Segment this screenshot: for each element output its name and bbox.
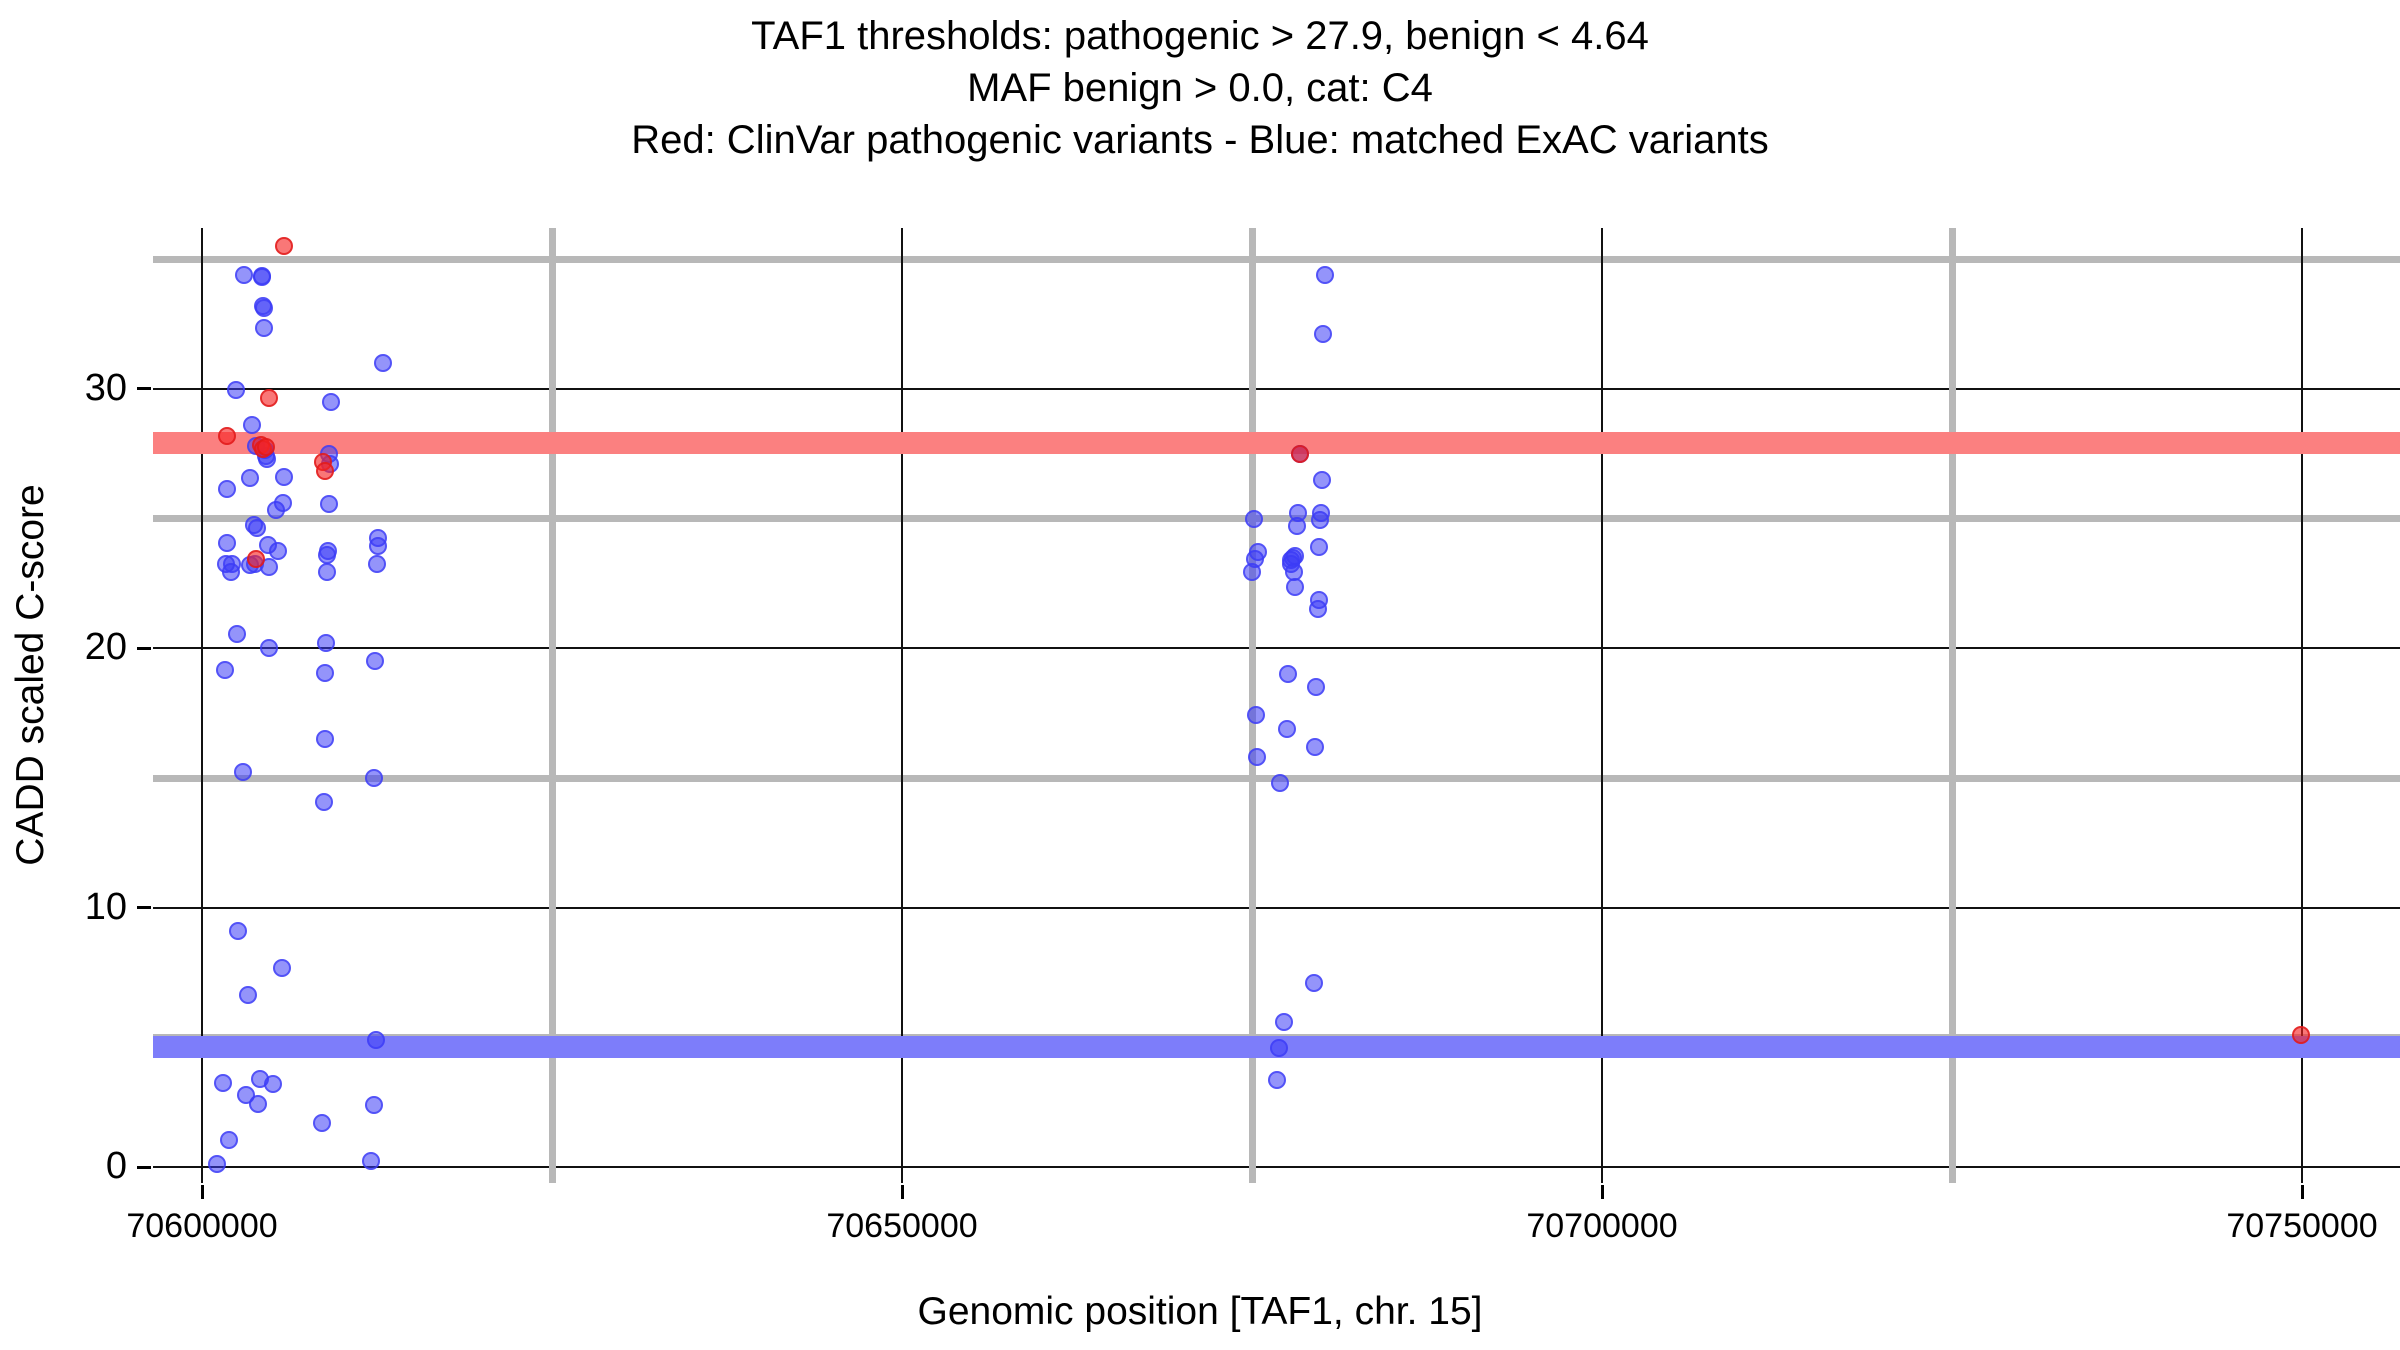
gridline-major-horizontal: [153, 1166, 2400, 1168]
scatter-point: [228, 625, 246, 643]
scatter-point: [1248, 748, 1266, 766]
scatter-point: [315, 793, 333, 811]
y-tick-mark: [137, 1166, 151, 1169]
x-tick-mark: [201, 1185, 204, 1199]
scatter-point: [1310, 538, 1328, 556]
scatter-point: [322, 393, 340, 411]
scatter-point: [365, 769, 383, 787]
scatter-point: [316, 462, 334, 480]
scatter-point: [1305, 974, 1323, 992]
x-tick-mark: [2301, 1185, 2304, 1199]
scatter-point: [365, 1096, 383, 1114]
scatter-point: [317, 634, 335, 652]
scatter-point: [257, 438, 275, 456]
y-tick-label: 20: [7, 626, 127, 669]
scatter-point: [1249, 543, 1267, 561]
x-axis-label: Genomic position [TAF1, chr. 15]: [0, 1290, 2400, 1334]
scatter-point: [320, 495, 338, 513]
gridline-minor-horizontal: [153, 256, 2400, 263]
pathogenic-threshold-band: [153, 432, 2400, 454]
scatter-point: [318, 563, 336, 581]
scatter-point: [218, 480, 236, 498]
scatter-point: [1278, 720, 1296, 738]
scatter-point: [249, 1095, 267, 1113]
scatter-point: [220, 1131, 238, 1149]
y-tick-label: 10: [7, 886, 127, 929]
scatter-point: [1268, 1071, 1286, 1089]
scatter-point: [1275, 1013, 1293, 1031]
scatter-point: [1316, 266, 1334, 284]
scatter-point: [255, 319, 273, 337]
scatter-point: [1314, 325, 1332, 343]
x-tick-label: 70600000: [52, 1207, 352, 1246]
scatter-point: [366, 652, 384, 670]
title-line-2: MAF benign > 0.0, cat: C4: [0, 62, 2400, 114]
scatter-point: [260, 389, 278, 407]
gridline-major-horizontal: [153, 907, 2400, 909]
x-tick-label: 70750000: [2152, 1207, 2400, 1246]
scatter-point: [1310, 591, 1328, 609]
scatter-point: [274, 494, 292, 512]
y-tick-mark: [137, 387, 151, 390]
scatter-point: [367, 1031, 385, 1049]
x-tick-label: 70650000: [752, 1207, 1052, 1246]
scatter-point: [273, 959, 291, 977]
scatter-point: [1291, 445, 1309, 463]
y-tick-label: 0: [7, 1145, 127, 1188]
scatter-point: [368, 555, 386, 573]
scatter-point: [275, 468, 293, 486]
scatter-point: [235, 266, 253, 284]
scatter-point: [1271, 774, 1289, 792]
scatter-point: [218, 427, 236, 445]
gridline-minor-horizontal: [153, 515, 2400, 522]
scatter-point: [260, 639, 278, 657]
title-line-1: TAF1 thresholds: pathogenic > 27.9, beni…: [0, 10, 2400, 62]
y-tick-label: 30: [7, 367, 127, 410]
scatter-point: [2292, 1026, 2310, 1044]
scatter-point: [269, 542, 287, 560]
scatter-point: [1313, 471, 1331, 489]
chart-figure: TAF1 thresholds: pathogenic > 27.9, beni…: [0, 0, 2400, 1350]
scatter-point: [1279, 665, 1297, 683]
x-tick-label: 70700000: [1452, 1207, 1752, 1246]
chart-title: TAF1 thresholds: pathogenic > 27.9, beni…: [0, 10, 2400, 166]
scatter-point: [241, 469, 259, 487]
scatter-point: [316, 730, 334, 748]
scatter-point: [313, 1114, 331, 1132]
scatter-point: [1270, 1039, 1288, 1057]
scatter-point: [218, 534, 236, 552]
scatter-point: [1286, 547, 1304, 565]
gridline-major-horizontal: [153, 647, 2400, 649]
scatter-point: [255, 299, 273, 317]
scatter-point: [1286, 578, 1304, 596]
scatter-point: [208, 1155, 226, 1173]
scatter-point: [275, 237, 293, 255]
scatter-point: [247, 550, 265, 568]
scatter-point: [1247, 706, 1265, 724]
scatter-point: [214, 1074, 232, 1092]
scatter-point: [316, 664, 334, 682]
y-tick-mark: [137, 647, 151, 650]
scatter-point: [374, 354, 392, 372]
scatter-point: [243, 416, 261, 434]
x-tick-mark: [1601, 1185, 1604, 1199]
scatter-point: [227, 381, 245, 399]
gridline-major-horizontal: [153, 388, 2400, 390]
scatter-point: [1245, 510, 1263, 528]
x-tick-mark: [901, 1185, 904, 1199]
title-line-3: Red: ClinVar pathogenic variants - Blue:…: [0, 114, 2400, 166]
scatter-point: [239, 986, 257, 1004]
scatter-point: [216, 661, 234, 679]
scatter-point: [319, 542, 337, 560]
scatter-point: [229, 922, 247, 940]
y-tick-mark: [137, 906, 151, 909]
scatter-point: [234, 763, 252, 781]
scatter-point: [248, 519, 266, 537]
scatter-point: [1312, 504, 1330, 522]
plot-panel: [153, 228, 2400, 1183]
scatter-point: [264, 1075, 282, 1093]
scatter-point: [1307, 678, 1325, 696]
scatter-point: [1306, 738, 1324, 756]
